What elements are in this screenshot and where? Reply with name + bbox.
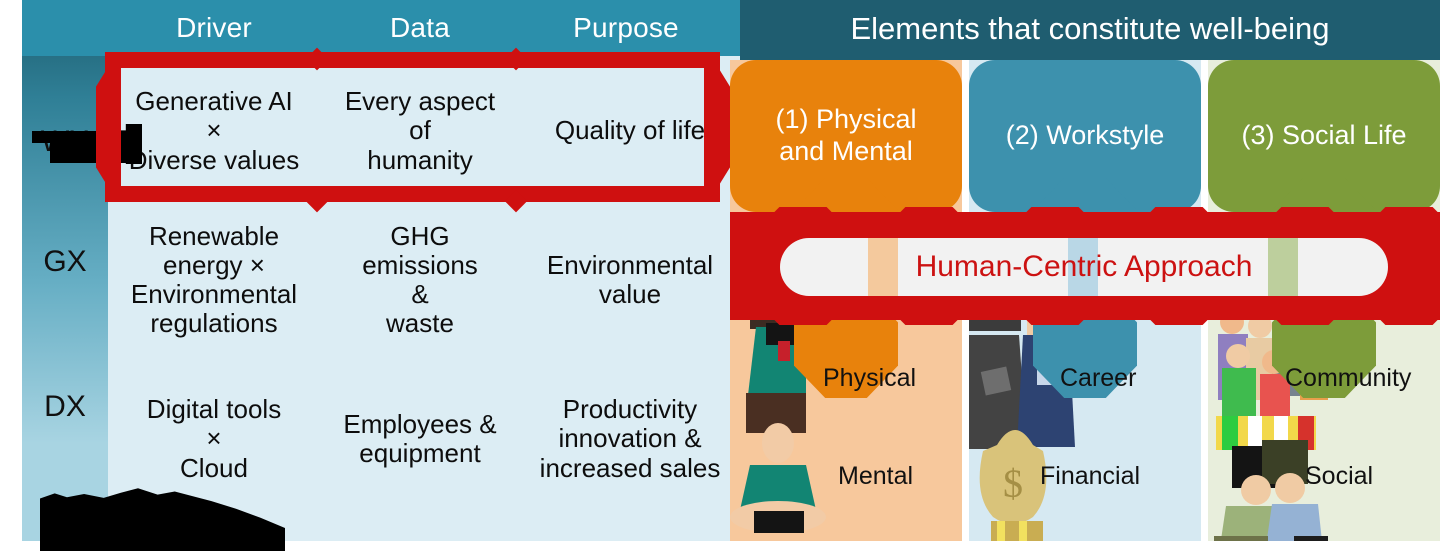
right-panel-title: Elements that constitute well-being xyxy=(740,0,1440,60)
column-header-data: Data xyxy=(320,0,520,56)
diagram-canvas: Driver Data Purpose Generative AI×Divers… xyxy=(0,0,1440,551)
cell-dx-data: Employees &equipment xyxy=(320,354,520,524)
wx-row-highlight-box xyxy=(105,52,720,202)
cell-gx-purpose: Environmentalvalue xyxy=(520,206,740,354)
row-label-gx: GX xyxy=(22,245,108,279)
sublabel-career: Career xyxy=(1060,364,1136,393)
bubble-label-social-life: (3) Social Life xyxy=(1208,60,1440,212)
column-header-driver: Driver xyxy=(108,0,320,56)
sublabel-mental: Mental xyxy=(838,462,913,491)
row-label-dx: DX xyxy=(22,390,108,424)
cell-dx-purpose: Productivityinnovation &increased sales xyxy=(520,354,740,524)
sublabel-physical: Physical xyxy=(823,364,916,393)
bubble-label-physical-mental: (1) Physicaland Mental xyxy=(730,60,962,212)
right-panel: Elements that constitute well-being xyxy=(720,0,1440,541)
cell-gx-data: GHGemissions&waste xyxy=(320,206,520,354)
column-header-purpose: Purpose xyxy=(520,0,732,56)
sublabel-social: Social xyxy=(1305,462,1373,491)
sublabel-financial: Financial xyxy=(1040,462,1140,491)
ribbon-label: Human-Centric Approach xyxy=(780,238,1388,296)
svg-text:$: $ xyxy=(1003,461,1023,506)
bubble-label-workstyle: (2) Workstyle xyxy=(969,60,1201,212)
sublabel-community: Community xyxy=(1285,364,1411,393)
cell-gx-driver: Renewableenergy ×Environmentalregulation… xyxy=(108,206,320,354)
